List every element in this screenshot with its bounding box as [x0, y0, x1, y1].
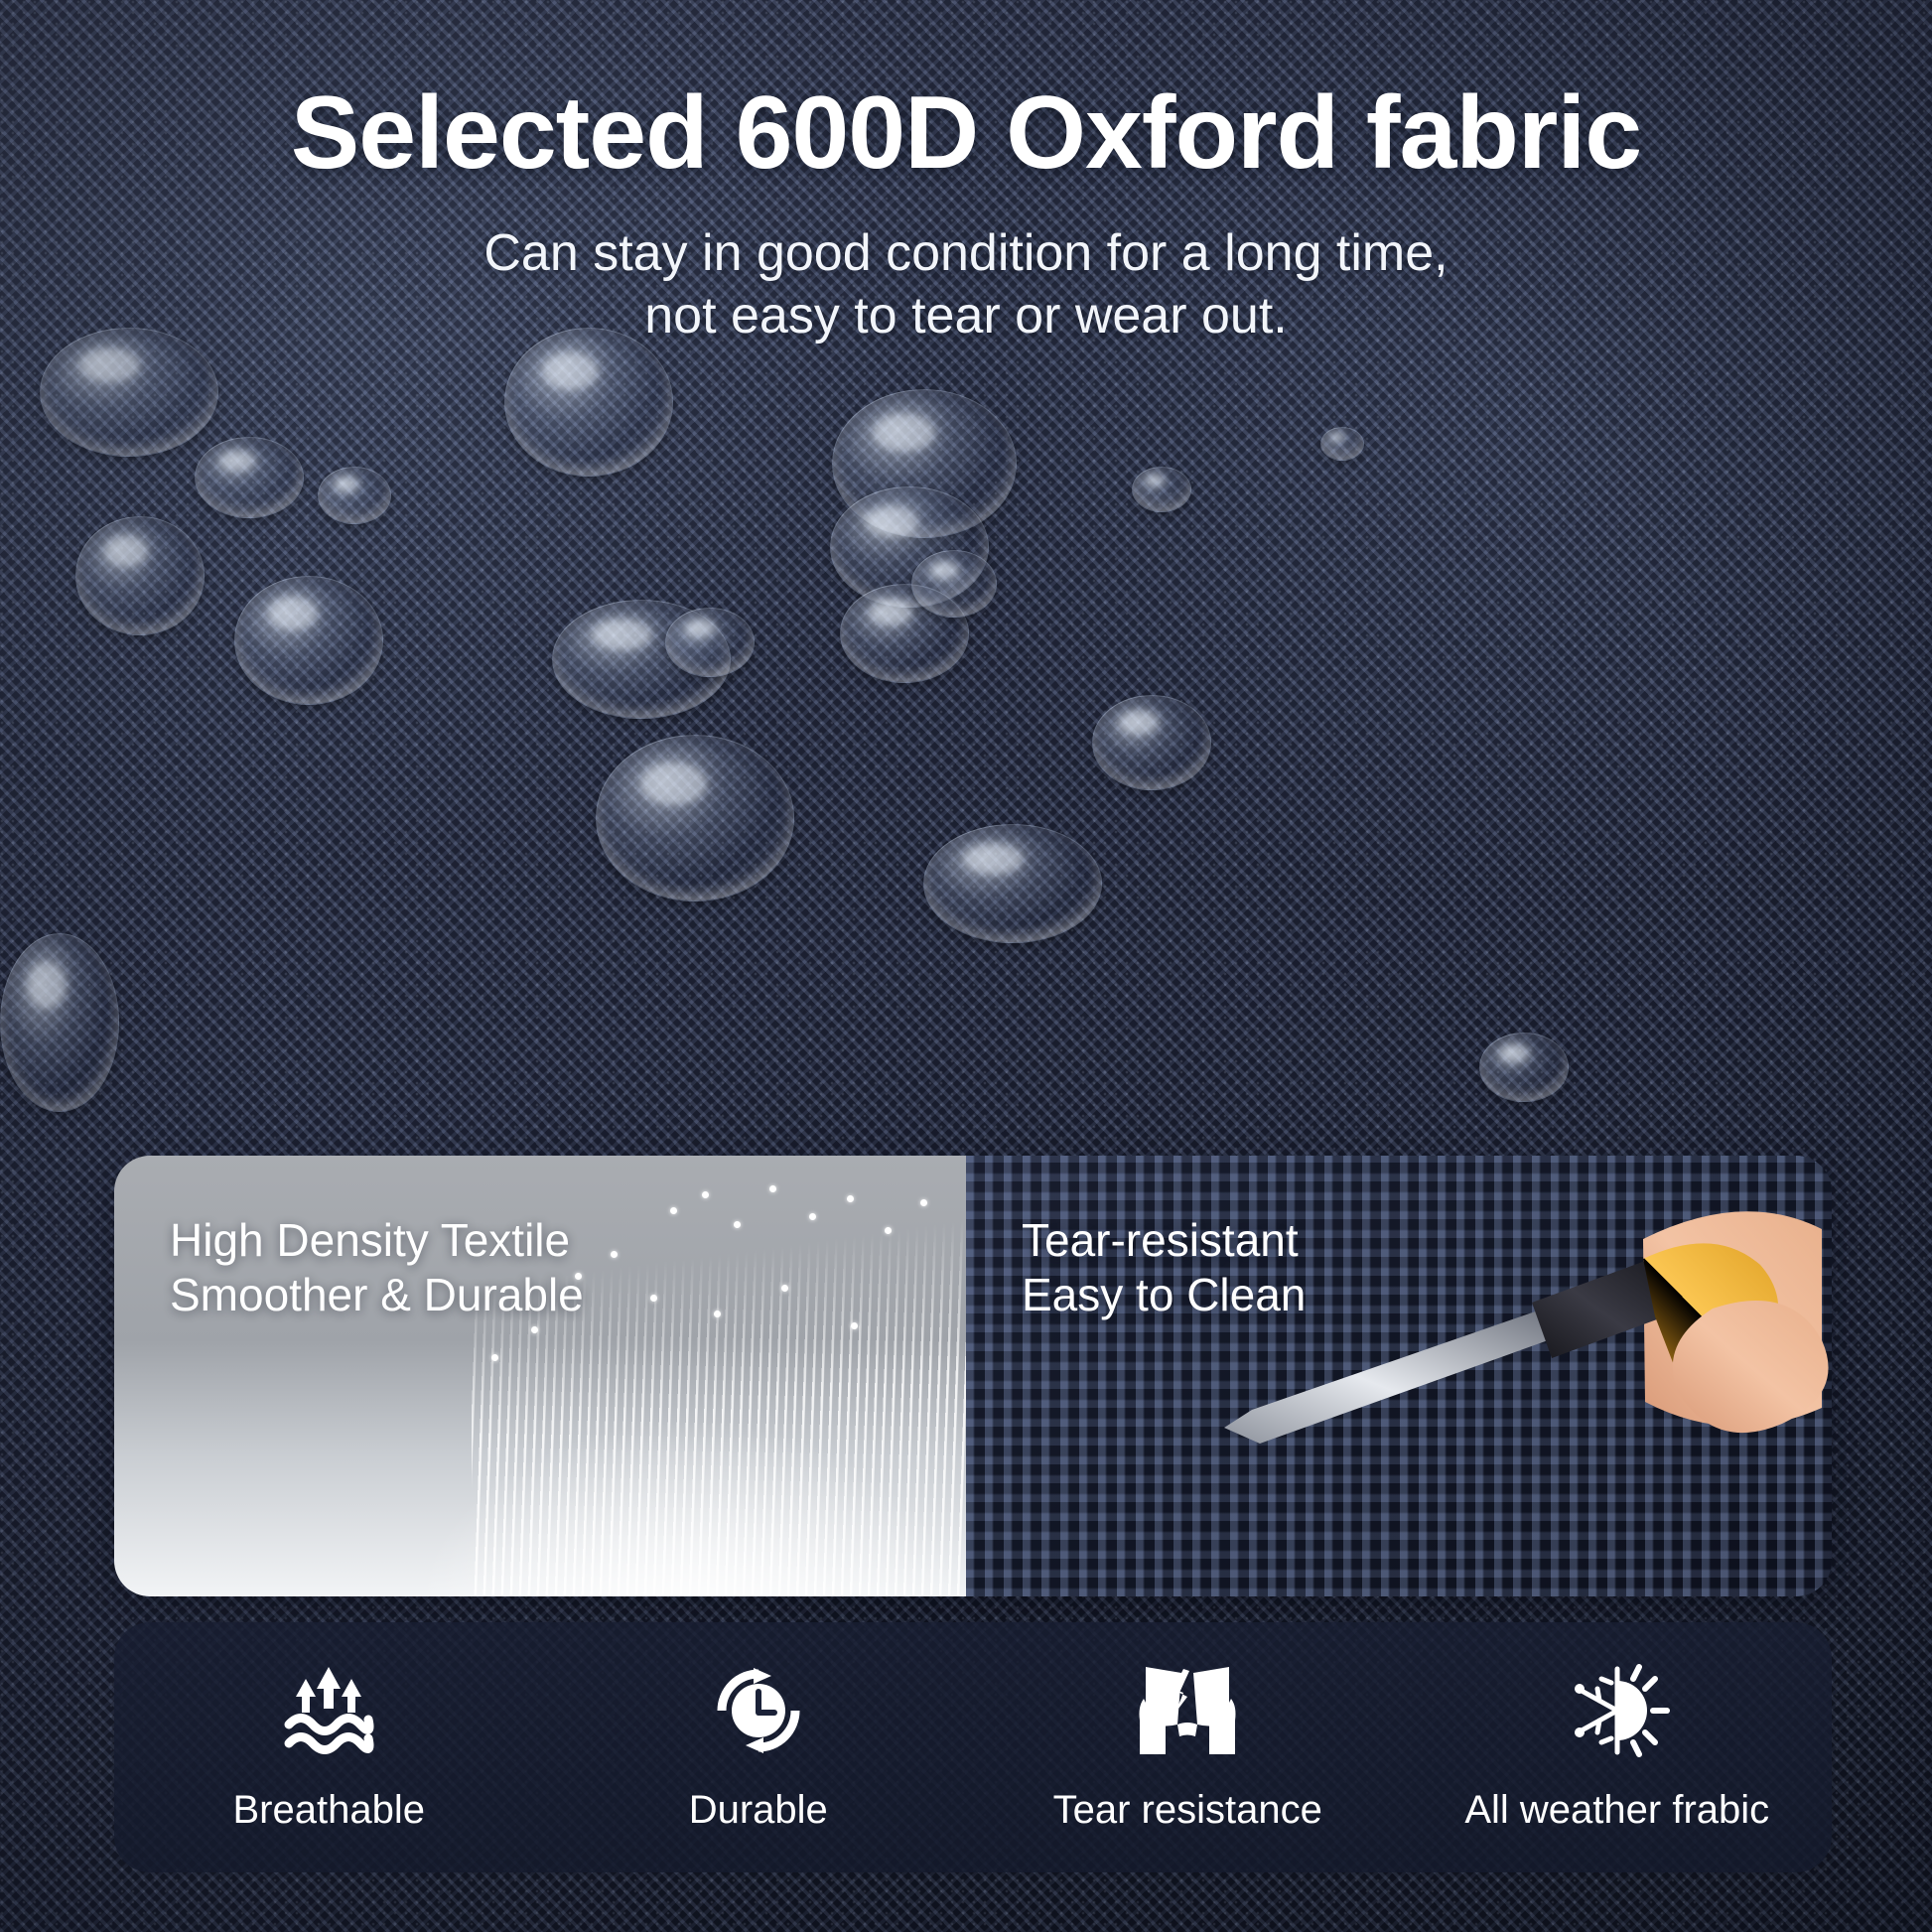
feature-bar: Breathable Durable — [114, 1622, 1832, 1872]
feature-label: All weather frabic — [1464, 1788, 1769, 1833]
fiber-tip — [769, 1185, 776, 1192]
hands-tearing-fabric-icon — [1134, 1663, 1241, 1758]
fiber-tip — [885, 1227, 892, 1234]
feature-item-tear-resistance: Tear resistance — [973, 1663, 1403, 1833]
feature-item-durable: Durable — [544, 1663, 974, 1833]
right-caption-line-1: Tear-resistant — [1022, 1213, 1306, 1268]
split-feature-panel: High Density Textile Smoother & Durable — [114, 1156, 1832, 1596]
fiber-tip — [611, 1251, 618, 1258]
fiber-glow — [412, 1338, 966, 1596]
fiber-tip — [734, 1221, 741, 1228]
clock-rotating-arrows-icon — [710, 1663, 807, 1758]
feature-item-breathable: Breathable — [114, 1663, 544, 1833]
fiber-tip — [781, 1285, 788, 1292]
fiber-tip — [809, 1213, 816, 1220]
fiber-tip — [491, 1354, 498, 1361]
subtitle-line-1: Can stay in good condition for a long ti… — [0, 222, 1932, 284]
right-panel-caption: Tear-resistant Easy to Clean — [1022, 1213, 1306, 1322]
feature-label: Tear resistance — [1053, 1788, 1322, 1833]
screwdriver-illustration — [1216, 1199, 1832, 1596]
breathable-waves-arrows-icon — [279, 1663, 378, 1758]
feature-label: Breathable — [233, 1788, 425, 1833]
subtitle-line-2: not easy to tear or wear out. — [0, 285, 1932, 346]
left-panel-caption: High Density Textile Smoother & Durable — [170, 1213, 584, 1322]
page-subtitle: Can stay in good condition for a long ti… — [0, 222, 1932, 346]
left-caption-line-1: High Density Textile — [170, 1213, 584, 1268]
fiber-tip — [531, 1326, 538, 1333]
page-title: Selected 600D Oxford fabric — [0, 77, 1932, 189]
fiber-tip — [670, 1207, 677, 1214]
right-feature-image: Tear-resistant Easy to Clean — [966, 1156, 1832, 1596]
feature-label: Durable — [689, 1788, 828, 1833]
fiber-tip — [650, 1295, 657, 1302]
fiber-tip — [847, 1195, 854, 1202]
fiber-tip — [714, 1311, 721, 1317]
feature-item-all-weather: All weather frabic — [1403, 1663, 1833, 1833]
headline-block: Selected 600D Oxford fabric Can stay in … — [0, 77, 1932, 346]
fiber-tip — [920, 1199, 927, 1206]
fiber-tip — [702, 1191, 709, 1198]
snowflake-sun-icon — [1564, 1663, 1671, 1758]
right-caption-line-2: Easy to Clean — [1022, 1268, 1306, 1322]
left-caption-line-2: Smoother & Durable — [170, 1268, 584, 1322]
left-feature-image: High Density Textile Smoother & Durable — [114, 1156, 966, 1596]
fiber-tip — [851, 1322, 858, 1329]
